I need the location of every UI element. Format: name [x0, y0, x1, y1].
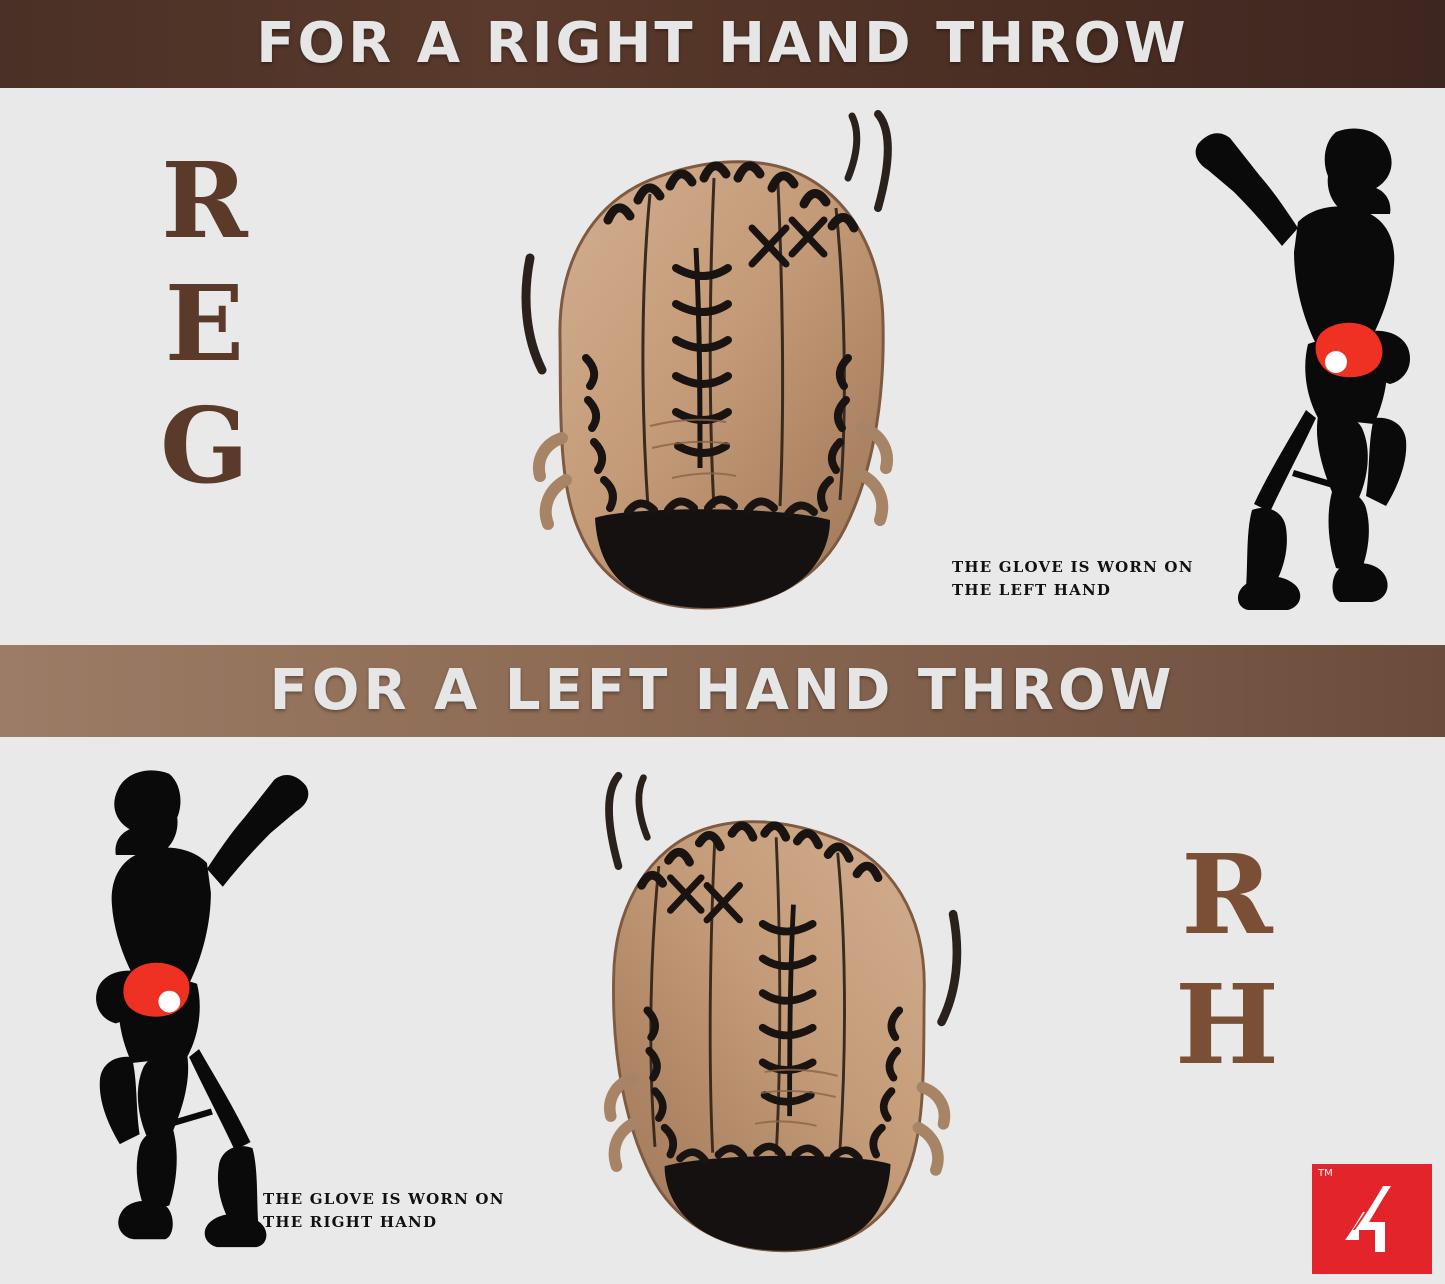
caption-top-line-2: THE LEFT HAND [952, 579, 1222, 602]
banner-left-hand-throw-text: FOR A LEFT HAND THROW [270, 663, 1176, 719]
code-letter-g: G [160, 385, 249, 508]
caption-bottom-line-2: THE RIGHT HAND [263, 1211, 533, 1234]
player-silhouette-right-hand-throw [1190, 118, 1420, 623]
product-infographic: FOR A RIGHT HAND THROW R E G [0, 0, 1445, 1284]
code-letters-rh: R H [1175, 830, 1279, 1090]
red-glove-highlight [123, 963, 189, 1017]
player-silhouette-left-hand-throw [40, 760, 360, 1260]
code-letter-r: R [160, 140, 249, 263]
banner-right-hand-throw-text: FOR A RIGHT HAND THROW [256, 16, 1188, 72]
red-glove-highlight [1316, 323, 1383, 378]
code-letter-r2: R [1175, 830, 1279, 960]
caption-bottom-line-1: THE GLOVE IS WORN ON [263, 1188, 533, 1211]
brand-logo [1312, 1164, 1432, 1274]
glove-image-right-hand-throw [500, 108, 920, 628]
caption-glove-worn-left-hand: THE GLOVE IS WORN ON THE LEFT HAND [952, 556, 1222, 603]
brand-mark-icon [1333, 1182, 1411, 1256]
banner-left-hand-throw: FOR A LEFT HAND THROW [0, 645, 1445, 737]
code-letters-reg: R E G [160, 140, 249, 508]
trademark-symbol: TM [1318, 1168, 1333, 1179]
banner-right-hand-throw: FOR A RIGHT HAND THROW [0, 0, 1445, 88]
caption-glove-worn-right-hand: THE GLOVE IS WORN ON THE RIGHT HAND [263, 1188, 533, 1235]
glove-image-left-hand-throw [570, 770, 990, 1270]
code-letter-h: H [1175, 960, 1279, 1090]
code-letter-e: E [160, 263, 249, 386]
caption-top-line-1: THE GLOVE IS WORN ON [952, 556, 1222, 579]
